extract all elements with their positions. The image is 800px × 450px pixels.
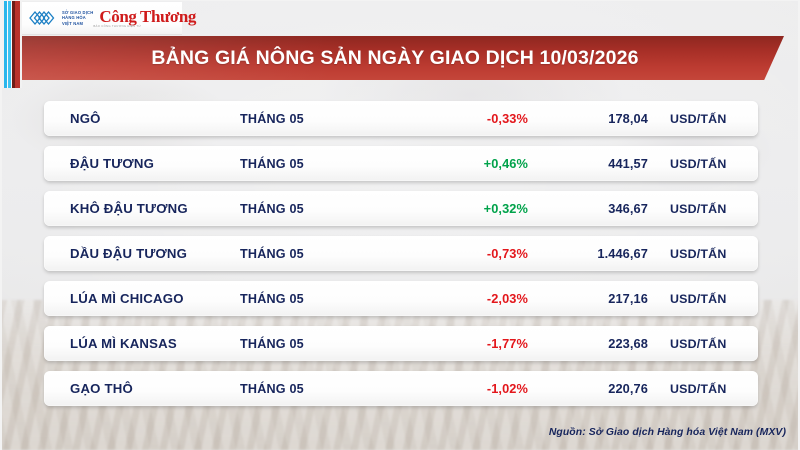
price-table: NGÔTHÁNG 05-0,33%178,04USD/TẤNĐẬU TƯƠNGT… [44, 101, 758, 406]
title-banner: BẢNG GIÁ NÔNG SẢN NGÀY GIAO DỊCH 10/03/2… [22, 36, 784, 80]
percent-change: +0,46% [390, 156, 528, 171]
contract-month: THÁNG 05 [240, 157, 390, 171]
price-unit: USD/TẤN [648, 247, 758, 261]
commodity-name: KHÔ ĐẬU TƯƠNG [44, 201, 240, 216]
commodity-name: ĐẬU TƯƠNG [44, 156, 240, 171]
table-row: LÚA MÌ KANSASTHÁNG 05-1,77%223,68USD/TẤN [44, 326, 758, 361]
commodity-name: DẦU ĐẬU TƯƠNG [44, 246, 240, 261]
contract-month: THÁNG 05 [240, 247, 390, 261]
price-unit: USD/TẤN [648, 112, 758, 126]
price-board-poster: SỞ GIAO DỊCH HÀNG HÓA VIỆT NAM Công Thươ… [0, 0, 800, 450]
price-value: 346,67 [528, 201, 648, 216]
price-value: 220,76 [528, 381, 648, 396]
table-row: NGÔTHÁNG 05-0,33%178,04USD/TẤN [44, 101, 758, 136]
price-value: 217,16 [528, 291, 648, 306]
contract-month: THÁNG 05 [240, 382, 390, 396]
percent-change: +0,32% [390, 201, 528, 216]
price-unit: USD/TẤN [648, 157, 758, 171]
percent-change: -0,73% [390, 246, 528, 261]
mxv-line-3: VIỆT NAM [62, 21, 93, 26]
price-value: 178,04 [528, 111, 648, 126]
table-row: GẠO THÔTHÁNG 05-1,02%220,76USD/TẤN [44, 371, 758, 406]
table-row: LÚA MÌ CHICAGOTHÁNG 05-2,03%217,16USD/TẤ… [44, 281, 758, 316]
publisher-wordmark: Công Thương BÁO CÔNG THƯƠNG ĐIỆN TỬ [93, 8, 196, 28]
price-value: 441,57 [528, 156, 648, 171]
commodity-name: NGÔ [44, 111, 240, 126]
contract-month: THÁNG 05 [240, 292, 390, 306]
price-unit: USD/TẤN [648, 337, 758, 351]
mxv-wave-logo-icon [28, 8, 58, 28]
price-value: 223,68 [528, 336, 648, 351]
table-row: ĐẬU TƯƠNGTHÁNG 05+0,46%441,57USD/TẤN [44, 146, 758, 181]
commodity-name: LÚA MÌ KANSAS [44, 336, 240, 351]
percent-change: -0,33% [390, 111, 528, 126]
percent-change: -1,02% [390, 381, 528, 396]
price-unit: USD/TẤN [648, 202, 758, 216]
table-row: KHÔ ĐẬU TƯƠNGTHÁNG 05+0,32%346,67USD/TẤN [44, 191, 758, 226]
contract-month: THÁNG 05 [240, 202, 390, 216]
page-title: BẢNG GIÁ NÔNG SẢN NGÀY GIAO DỊCH 10/03/2… [151, 47, 654, 70]
contract-month: THÁNG 05 [240, 112, 390, 126]
left-accent-bars [0, 0, 22, 88]
source-attribution: Nguồn: Sở Giao dịch Hàng hóa Việt Nam (M… [549, 427, 786, 438]
commodity-name: LÚA MÌ CHICAGO [44, 291, 240, 306]
price-value: 1.446,67 [528, 246, 648, 261]
contract-month: THÁNG 05 [240, 337, 390, 351]
mxv-wordmark: SỞ GIAO DỊCH HÀNG HÓA VIỆT NAM [58, 10, 93, 26]
percent-change: -1,77% [390, 336, 528, 351]
logo-plate: SỞ GIAO DỊCH HÀNG HÓA VIỆT NAM Công Thươ… [22, 2, 182, 35]
publisher-name: Công Thương [99, 8, 196, 25]
commodity-name: GẠO THÔ [44, 381, 240, 396]
percent-change: -2,03% [390, 291, 528, 306]
price-unit: USD/TẤN [648, 382, 758, 396]
table-row: DẦU ĐẬU TƯƠNGTHÁNG 05-0,73%1.446,67USD/T… [44, 236, 758, 271]
price-unit: USD/TẤN [648, 292, 758, 306]
